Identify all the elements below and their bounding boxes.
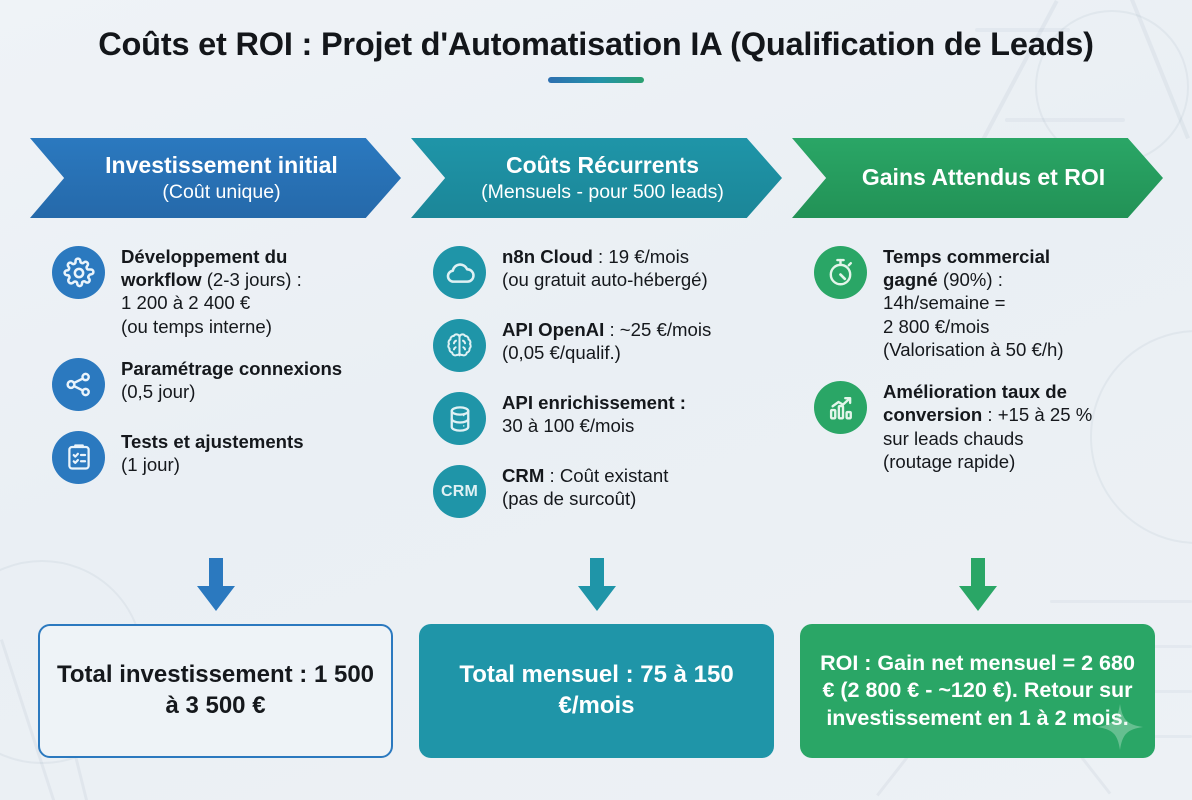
cloud-icon bbox=[433, 246, 486, 299]
list-item-text: Amélioration taux de conversion : +15 à … bbox=[883, 379, 1092, 473]
list-item-text: Paramétrage connexions (0,5 jour) bbox=[121, 356, 342, 403]
arrow-wrap-2 bbox=[411, 558, 782, 612]
list-item-text: API enrichissement : 30 à 100 €/mois bbox=[502, 390, 686, 437]
database-icon bbox=[433, 392, 486, 445]
crm-text-icon: CRM bbox=[433, 465, 486, 518]
item-line-rest: sur leads chauds bbox=[883, 428, 1024, 449]
list-item-text: API OpenAI : ~25 €/mois (0,05 €/qualif.) bbox=[502, 317, 711, 364]
item-line-rest: (0,5 jour) bbox=[121, 381, 195, 402]
item-line-rest: : +15 à 25 % bbox=[982, 404, 1092, 425]
columns-container: Investissement initial (Coût unique) Dév… bbox=[30, 138, 1165, 778]
item-line-bold: Tests et ajustements bbox=[121, 431, 304, 452]
down-arrow-icon bbox=[575, 558, 619, 612]
gear-icon bbox=[52, 246, 105, 299]
list-item-text: Développement du workflow (2-3 jours) : … bbox=[121, 244, 302, 338]
clipboard-check-icon bbox=[52, 431, 105, 484]
crm-icon-label: CRM bbox=[441, 483, 478, 501]
item-list-3: Temps commercial gagné (90%) : 14h/semai… bbox=[792, 244, 1163, 473]
chart-growth-icon bbox=[814, 381, 867, 434]
watermark-bar bbox=[1005, 118, 1125, 122]
item-line-bold: API enrichissement : bbox=[502, 392, 686, 413]
list-item[interactable]: Amélioration taux de conversion : +15 à … bbox=[814, 379, 1163, 473]
total-box-text: Total mensuel : 75 à 150 €/mois bbox=[435, 660, 758, 721]
item-line-rest: (2-3 jours) : bbox=[202, 269, 302, 290]
brain-icon bbox=[433, 319, 486, 372]
item-line-rest: (Valorisation à 50 €/h) bbox=[883, 339, 1064, 360]
page-header: Coûts et ROI : Projet d'Automatisation I… bbox=[0, 26, 1192, 83]
item-line-rest: 14h/semaine = bbox=[883, 292, 1006, 313]
arrow-wrap-1 bbox=[30, 558, 401, 612]
list-item-text: CRM : Coût existant (pas de surcoût) bbox=[502, 463, 668, 510]
total-line-4: en 1 à 2 mois. bbox=[988, 706, 1129, 730]
list-item[interactable]: Tests et ajustements (1 jour) bbox=[52, 429, 401, 484]
total-line-1: ROI : Gain net mensuel = bbox=[820, 651, 1075, 675]
list-item-text: Tests et ajustements (1 jour) bbox=[121, 429, 304, 476]
banner-subtitle: (Mensuels - pour 500 leads) bbox=[481, 181, 724, 203]
item-line-bold: Développement du bbox=[121, 246, 287, 267]
list-item[interactable]: Paramétrage connexions (0,5 jour) bbox=[52, 356, 401, 411]
item-line-bold: Amélioration taux de bbox=[883, 381, 1067, 402]
list-item[interactable]: Développement du workflow (2-3 jours) : … bbox=[52, 244, 401, 338]
item-line-rest: 30 à 100 €/mois bbox=[502, 415, 634, 436]
total-line-1: Total investissement : bbox=[57, 661, 307, 688]
list-item[interactable]: API OpenAI : ~25 €/mois (0,05 €/qualif.) bbox=[433, 317, 782, 372]
item-list-1: Développement du workflow (2-3 jours) : … bbox=[30, 244, 401, 484]
item-line-bold: CRM bbox=[502, 465, 544, 486]
down-arrow-icon bbox=[956, 558, 1000, 612]
title-underline-rule bbox=[548, 77, 644, 83]
stopwatch-icon bbox=[814, 246, 867, 299]
item-line-bold: API OpenAI bbox=[502, 319, 604, 340]
item-line-bold: workflow bbox=[121, 269, 202, 290]
banner-title: Gains Attendus et ROI bbox=[862, 165, 1105, 190]
infographic-canvas: Coûts et ROI : Projet d'Automatisation I… bbox=[0, 0, 1192, 800]
column-header-banner-2: Coûts Récurrents (Mensuels - pour 500 le… bbox=[411, 138, 782, 218]
item-line-bold: n8n Cloud bbox=[502, 246, 593, 267]
item-line-rest: (routage rapide) bbox=[883, 451, 1015, 472]
share-nodes-icon bbox=[52, 358, 105, 411]
down-arrow-icon bbox=[194, 558, 238, 612]
item-line-rest: (90%) : bbox=[938, 269, 1003, 290]
list-item-text: Temps commercial gagné (90%) : 14h/semai… bbox=[883, 244, 1064, 361]
column-investissement-initial: Investissement initial (Coût unique) Dév… bbox=[30, 138, 401, 778]
list-item[interactable]: API enrichissement : 30 à 100 €/mois bbox=[433, 390, 782, 445]
item-line-rest: 2 800 €/mois bbox=[883, 316, 989, 337]
list-item-text: n8n Cloud : 19 €/mois (ou gratuit auto-h… bbox=[502, 244, 708, 291]
banner-title: Coûts Récurrents bbox=[506, 153, 699, 178]
item-line-rest: : 19 €/mois bbox=[593, 246, 689, 267]
list-item[interactable]: CRM CRM : Coût existant (pas de surcoût) bbox=[433, 463, 782, 518]
total-line-1: Total mensuel : bbox=[459, 661, 633, 688]
item-line-bold: Temps commercial bbox=[883, 246, 1050, 267]
item-line-rest: : Coût existant bbox=[544, 465, 668, 486]
total-box-investissement: Total investissement : 1 500 à 3 500 € bbox=[38, 624, 393, 758]
total-box-text: Total investissement : 1 500 à 3 500 € bbox=[56, 660, 375, 721]
item-line-bold: conversion bbox=[883, 404, 982, 425]
column-header-banner-3: Gains Attendus et ROI bbox=[792, 138, 1163, 218]
list-item[interactable]: n8n Cloud : 19 €/mois (ou gratuit auto-h… bbox=[433, 244, 782, 299]
column-header-banner-1: Investissement initial (Coût unique) bbox=[30, 138, 401, 218]
item-line-bold: Paramétrage connexions bbox=[121, 358, 342, 379]
total-box-mensuel: Total mensuel : 75 à 150 €/mois bbox=[419, 624, 774, 758]
banner-subtitle: (Coût unique) bbox=[162, 181, 280, 203]
item-line-rest: (1 jour) bbox=[121, 454, 180, 475]
item-line-bold: gagné bbox=[883, 269, 938, 290]
page-title: Coûts et ROI : Projet d'Automatisation I… bbox=[0, 26, 1192, 63]
banner-title: Investissement initial bbox=[105, 153, 338, 178]
column-gains-attendus-roi: Gains Attendus et ROI Temps c bbox=[792, 138, 1163, 778]
item-line-rest: (0,05 €/qualif.) bbox=[502, 342, 621, 363]
column-couts-recurrents: Coûts Récurrents (Mensuels - pour 500 le… bbox=[411, 138, 782, 778]
list-item[interactable]: Temps commercial gagné (90%) : 14h/semai… bbox=[814, 244, 1163, 361]
item-line-rest: (ou temps interne) bbox=[121, 316, 272, 337]
total-box-text: ROI : Gain net mensuel = 2 680 € (2 800 … bbox=[816, 650, 1139, 733]
total-box-roi: ROI : Gain net mensuel = 2 680 € (2 800 … bbox=[800, 624, 1155, 758]
item-line-rest: 1 200 à 2 400 € bbox=[121, 292, 250, 313]
item-line-rest: (ou gratuit auto-hébergé) bbox=[502, 269, 708, 290]
item-list-2: n8n Cloud : 19 €/mois (ou gratuit auto-h… bbox=[411, 244, 782, 518]
item-line-rest: : ~25 €/mois bbox=[604, 319, 711, 340]
item-line-rest: (pas de surcoût) bbox=[502, 488, 636, 509]
arrow-wrap-3 bbox=[792, 558, 1163, 612]
